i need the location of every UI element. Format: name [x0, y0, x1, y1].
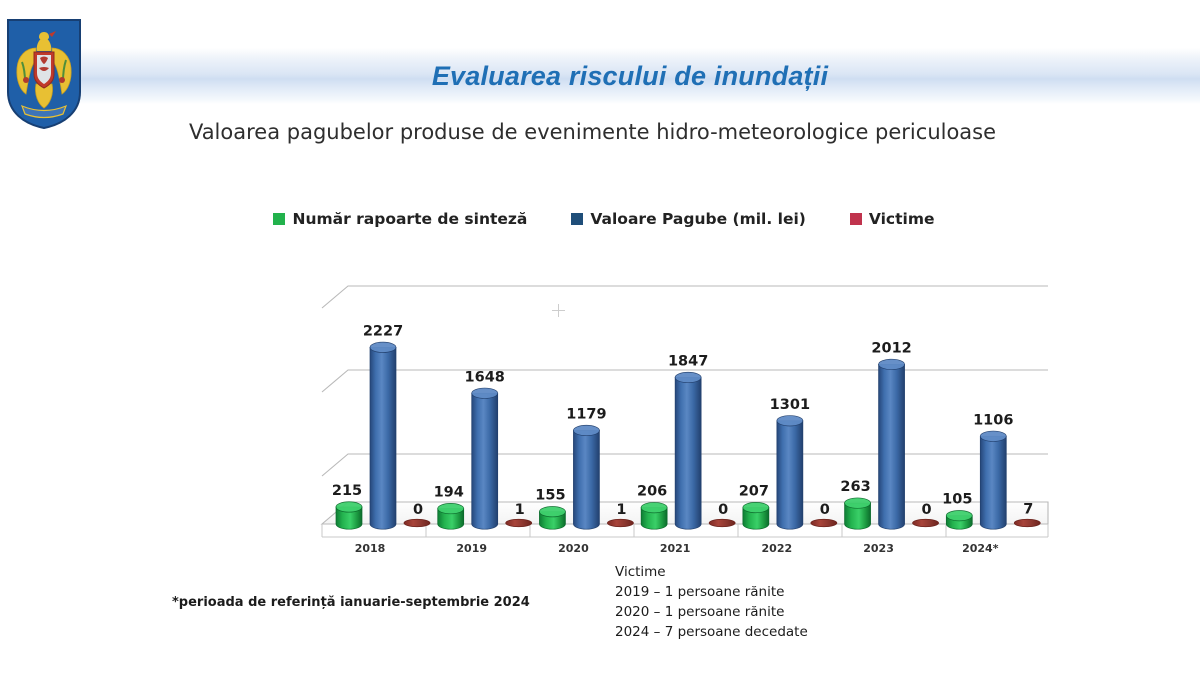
bar-value-label: 1	[616, 502, 626, 518]
bar-value-label: 1	[515, 502, 525, 518]
x-axis-label: 2018	[355, 542, 386, 555]
bar-cylinder	[506, 519, 532, 526]
victims-note-heading: Victime	[615, 562, 808, 582]
bar-cylinder	[607, 519, 633, 526]
legend-label: Număr rapoarte de sinteză	[292, 210, 527, 228]
bar-cylinder	[336, 502, 362, 529]
bar-value-label: 207	[739, 484, 769, 500]
chart-subtitle: Valoarea pagubelor produse de evenimente…	[0, 120, 1185, 144]
bar-value-label: 1847	[668, 353, 708, 369]
bar-value-label: 1648	[465, 369, 505, 385]
bar-cylinder	[709, 519, 735, 526]
bar-value-label: 1179	[566, 406, 606, 422]
bar-cylinder	[472, 388, 498, 529]
legend-swatch-icon	[273, 213, 285, 225]
x-axis-label: 2022	[762, 542, 793, 555]
bar-value-label: 7	[1023, 501, 1033, 517]
bar-value-label: 0	[413, 502, 423, 518]
bar-cylinder	[913, 519, 939, 526]
victims-note-line: 2020 – 1 persoane rănite	[615, 602, 808, 622]
page-title: Evaluarea riscului de inundații	[60, 50, 1200, 102]
bar-cylinder	[675, 372, 701, 529]
bar-cylinder	[980, 431, 1006, 529]
x-axis-label: 2021	[660, 542, 691, 555]
bar-cylinder	[946, 510, 972, 529]
chart-x-axis-labels: 2018201920202021202220232024*	[355, 542, 999, 555]
victims-note-line: 2019 – 1 persoane rănite	[615, 582, 808, 602]
bar-value-label: 215	[332, 483, 362, 499]
bar-value-label: 263	[840, 479, 870, 495]
legend-item-victime[interactable]: Victime	[850, 210, 935, 228]
x-axis-label: 2024*	[962, 542, 999, 555]
bar-value-label: 2227	[363, 323, 403, 339]
romania-coat-of-arms-icon	[6, 18, 82, 130]
bar-cylinder	[777, 416, 803, 530]
legend-label: Victime	[869, 210, 935, 228]
bar-cylinder	[811, 519, 837, 526]
bar-cylinder	[573, 425, 599, 529]
x-axis-label: 2019	[456, 542, 487, 555]
slide: Evaluarea riscului de inundații	[0, 0, 1200, 675]
legend-swatch-icon	[850, 213, 862, 225]
bar-cylinder	[879, 359, 905, 529]
chart-canvas: 2152227019416481155117912061847020713010…	[300, 262, 1070, 562]
bar-cylinder	[1014, 519, 1040, 526]
bar-cylinder	[438, 503, 464, 529]
victims-note: Victime 2019 – 1 persoane rănite 2020 – …	[615, 562, 808, 642]
legend-item-pagube[interactable]: Valoare Pagube (mil. lei)	[571, 210, 806, 228]
chart-legend: Număr rapoarte de sinteză Valoare Pagube…	[0, 210, 1200, 228]
bar-cylinder	[845, 498, 871, 529]
bar-cylinder	[641, 502, 667, 529]
bar-cylinder	[743, 502, 769, 529]
bar-value-label: 1301	[770, 397, 810, 413]
bar-cylinder	[370, 342, 396, 529]
bar-value-label: 0	[820, 502, 830, 518]
legend-label: Valoare Pagube (mil. lei)	[590, 210, 806, 228]
legend-item-rapoarte[interactable]: Număr rapoarte de sinteză	[273, 210, 527, 228]
bar-value-label: 0	[718, 502, 728, 518]
bar-value-label: 194	[434, 485, 464, 501]
bar-value-label: 0	[922, 502, 932, 518]
victims-note-line: 2024 – 7 persoane decedate	[615, 622, 808, 642]
bar-value-label: 206	[637, 484, 667, 500]
x-axis-label: 2023	[863, 542, 894, 555]
column-chart-3d[interactable]: 2152227019416481155117912061847020713010…	[300, 262, 1070, 562]
bar-cylinder	[404, 519, 430, 526]
legend-swatch-icon	[571, 213, 583, 225]
footnote-reference-period: *perioada de referință ianuarie-septembr…	[172, 595, 530, 610]
x-axis-label: 2020	[558, 542, 589, 555]
bar-value-label: 1106	[973, 412, 1013, 428]
mouse-cursor-crosshair-icon	[552, 304, 565, 317]
bar-value-label: 2012	[871, 340, 911, 356]
bar-value-label: 105	[942, 492, 972, 508]
bar-value-label: 155	[535, 488, 565, 504]
bar-cylinder	[539, 507, 565, 530]
